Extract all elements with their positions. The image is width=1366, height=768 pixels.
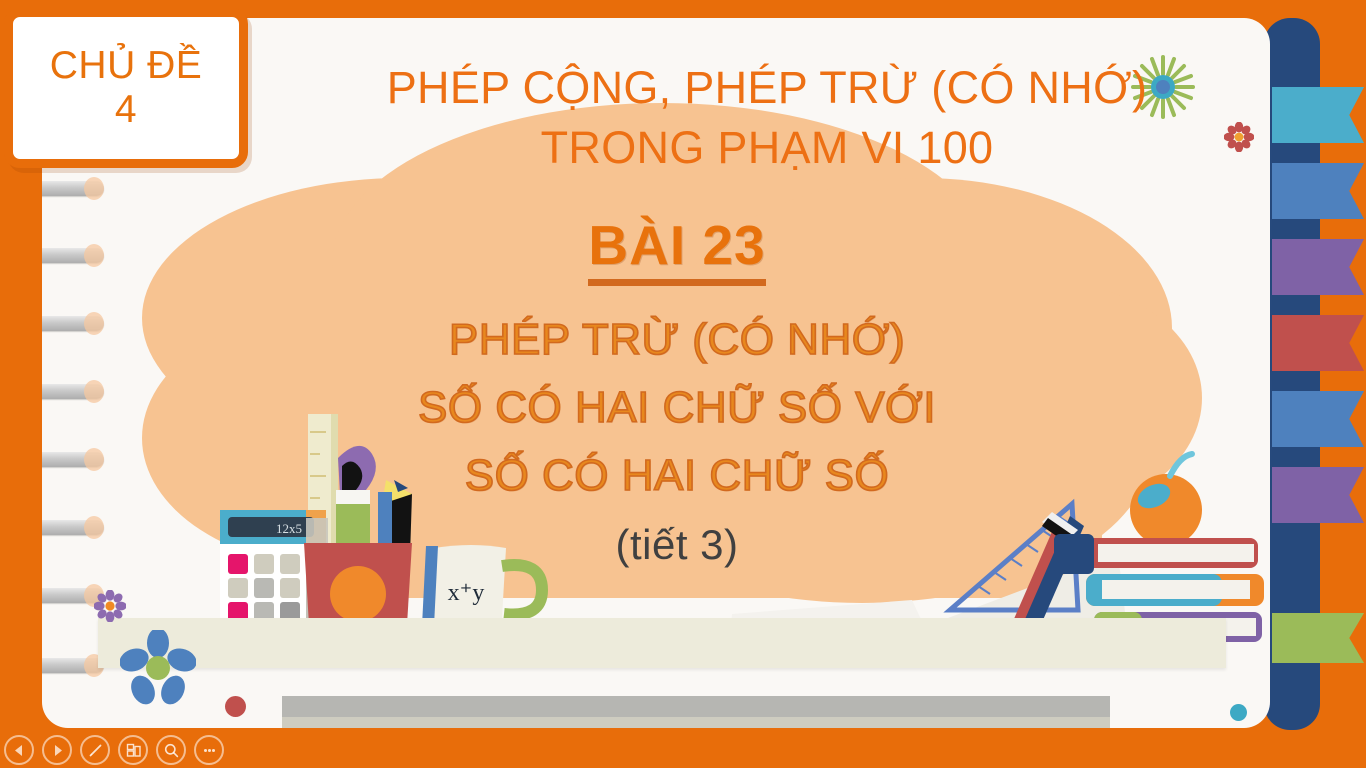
spiral-ring-8 xyxy=(42,658,104,673)
spiral-ring-2 xyxy=(42,248,104,263)
lesson-number: BÀI 23 xyxy=(588,213,765,286)
page-title: PHÉP CỘNG, PHÉP TRỪ (CÓ NHỚ) TRONG PHẠM … xyxy=(292,58,1242,178)
spiral-ring-3 xyxy=(42,316,104,331)
pen-tool-button[interactable] xyxy=(80,735,110,765)
spiral-ring-4 xyxy=(42,384,104,399)
cyan-dot xyxy=(1230,704,1247,721)
desk-shelf-upper xyxy=(282,696,1110,717)
zoom-button[interactable] xyxy=(156,735,186,765)
mug-label-text: x⁺y xyxy=(448,580,485,606)
slides-icon xyxy=(125,742,142,759)
ellipsis-icon xyxy=(201,742,218,759)
blue-flower-icon xyxy=(120,630,196,706)
search-icon xyxy=(163,742,180,759)
next-slide-button[interactable] xyxy=(42,735,72,765)
triangle-right-icon xyxy=(51,744,64,757)
lesson-title-line-1: PHÉP TRỪ (CÓ NHỚ) xyxy=(172,308,1182,372)
ribbon-purple-2 xyxy=(1272,467,1364,523)
slide-overview-button[interactable] xyxy=(118,735,148,765)
triangle-left-icon xyxy=(13,744,26,757)
ribbon-teal xyxy=(1272,87,1364,143)
header-line-2: TRONG PHẠM VI 100 xyxy=(292,118,1242,178)
topic-badge: CHỦ ĐỀ 4 xyxy=(4,8,248,168)
ribbon-green xyxy=(1272,613,1364,663)
ribbon-red xyxy=(1272,315,1364,371)
desk-shelf-lower xyxy=(282,717,1110,728)
ribbon-purple-1 xyxy=(1272,239,1364,295)
lesson-session: (tiết 3) xyxy=(172,521,1182,569)
lesson-block: BÀI 23 PHÉP TRỪ (CÓ NHỚ) SỐ CÓ HAI CHỮ S… xyxy=(172,213,1182,569)
more-options-button[interactable] xyxy=(194,735,224,765)
red-dot xyxy=(225,696,246,717)
previous-slide-button[interactable] xyxy=(4,735,34,765)
spiral-ring-6 xyxy=(42,520,104,535)
presentation-toolbar[interactable] xyxy=(4,733,224,767)
header-line-1: PHÉP CỘNG, PHÉP TRỪ (CÓ NHỚ) xyxy=(292,58,1242,118)
spiral-ring-5 xyxy=(42,452,104,467)
ribbon-blue-1 xyxy=(1272,163,1364,219)
lesson-title-line-2: SỐ CÓ HAI CHỮ SỐ VỚI xyxy=(172,376,1182,440)
spiral-ring-1 xyxy=(42,181,104,196)
topic-badge-label: CHỦ ĐỀ 4 xyxy=(50,44,203,131)
desk-surface xyxy=(98,618,1226,668)
pen-icon xyxy=(87,742,104,759)
ribbon-blue-2 xyxy=(1272,391,1364,447)
lesson-title-line-3: SỐ CÓ HAI CHỮ SỐ xyxy=(172,444,1182,508)
purple-flower-icon xyxy=(94,590,126,622)
